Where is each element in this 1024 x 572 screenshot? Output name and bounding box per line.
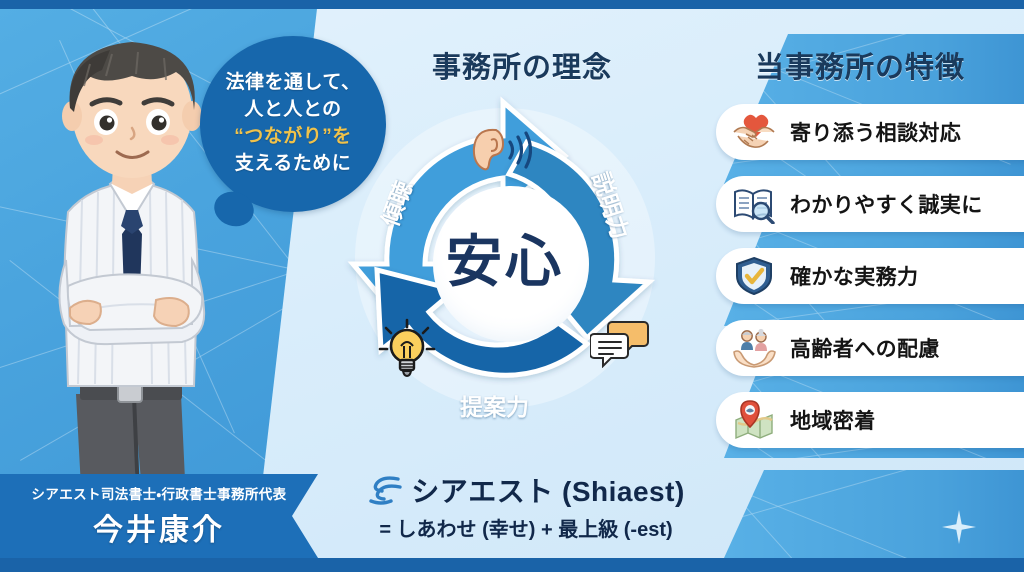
features-list: 寄り添う相談対応 わかりやすく誠実に 確かな実務力 (716, 104, 1024, 464)
infographic-canvas: 法律を通して、 人と人との “つながり”を 支えるために 事務所の理念 当事務所… (0, 0, 1024, 572)
brand-block: シアエスト (Shiaest) = しあわせ (幸せ) + 最上級 (-est) (356, 470, 696, 542)
feature-label: わかりやすく誠実に (790, 189, 983, 219)
brand-name: シアエスト (Shiaest) (411, 470, 685, 510)
feature-label: 確かな実務力 (790, 261, 918, 291)
center-heading: 事務所の理念 (402, 44, 642, 86)
ribbon-role: シアエスト司法書士・行政書士事務所代表 (31, 483, 286, 503)
top-frame-bar (0, 0, 1024, 9)
bottom-frame-bar (0, 558, 1024, 572)
accent-band (724, 470, 1024, 558)
book-magnifier-icon (732, 184, 776, 224)
shiaest-s-mark-icon (367, 474, 403, 506)
feature-label: 地域密着 (790, 405, 876, 435)
features-heading: 当事務所の特徴 (730, 44, 990, 86)
name-ribbon: シアエスト司法書士・行政書士事務所代表 今井康介 (0, 474, 318, 558)
feature-item[interactable]: 寄り添う相談対応 (716, 104, 1024, 160)
feature-item[interactable]: わかりやすく誠実に (716, 176, 1024, 232)
chat-bubbles-icon (590, 320, 650, 368)
brand-formula: = しあわせ (幸せ) + 最上級 (-est) (356, 513, 696, 542)
lightbulb-icon (378, 318, 436, 378)
speech-line-highlight: “つながり”を (226, 124, 361, 151)
speech-line: 支えるために (226, 151, 361, 178)
ribbon-name: 今井康介 (93, 505, 225, 549)
ear-icon (466, 124, 532, 176)
cycle-label-teianryoku: 提案力 (460, 388, 529, 422)
speech-line: 法律を通して、 (226, 70, 361, 97)
speech-bubble-text: 法律を通して、 人と人との “つながり”を 支えるために (226, 70, 361, 178)
speech-line: 人と人との (226, 97, 361, 124)
speech-bubble: 法律を通して、 人と人との “つながり”を 支えるために (200, 36, 386, 212)
feature-label: 高齢者への配慮 (790, 333, 940, 363)
feature-item[interactable]: 確かな実務力 (716, 248, 1024, 304)
handshake-heart-icon (732, 112, 776, 152)
elderly-care-hands-icon (732, 328, 776, 368)
shield-check-icon (732, 256, 776, 296)
feature-item[interactable]: 地域密着 (716, 392, 1024, 448)
map-pin-icon (732, 400, 776, 440)
feature-item[interactable]: 高齢者への配慮 (716, 320, 1024, 376)
feature-label: 寄り添う相談対応 (790, 117, 961, 147)
